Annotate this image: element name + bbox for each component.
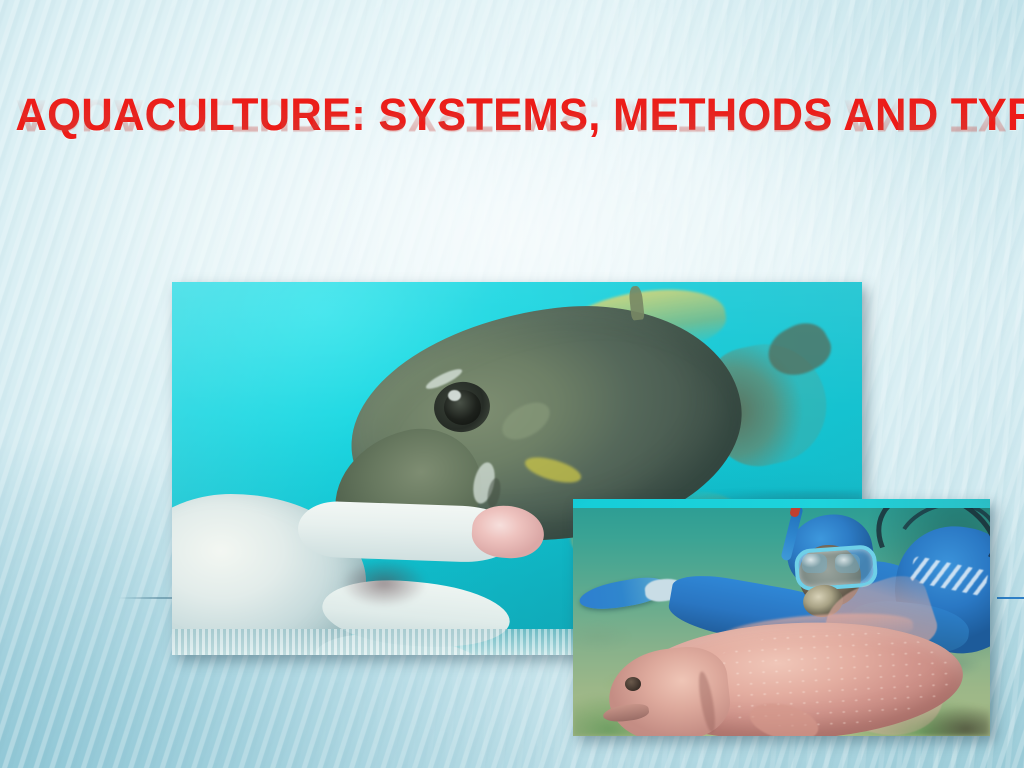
inset-photo-vignette <box>573 499 990 736</box>
triggerfish-eye-highlight <box>448 390 461 401</box>
decorative-rule-right <box>997 597 1024 599</box>
page-title-reflection: AQUACULTURE: SYSTEMS, METHODS AND TYPES <box>15 93 1008 138</box>
presentation-slide: AQUACULTURE: SYSTEMS, METHODS AND TYPES … <box>0 0 1024 768</box>
inset-photo-diver-and-snapper[interactable] <box>573 499 990 736</box>
slide-title-block: AQUACULTURE: SYSTEMS, METHODS AND TYPES … <box>0 92 1024 183</box>
